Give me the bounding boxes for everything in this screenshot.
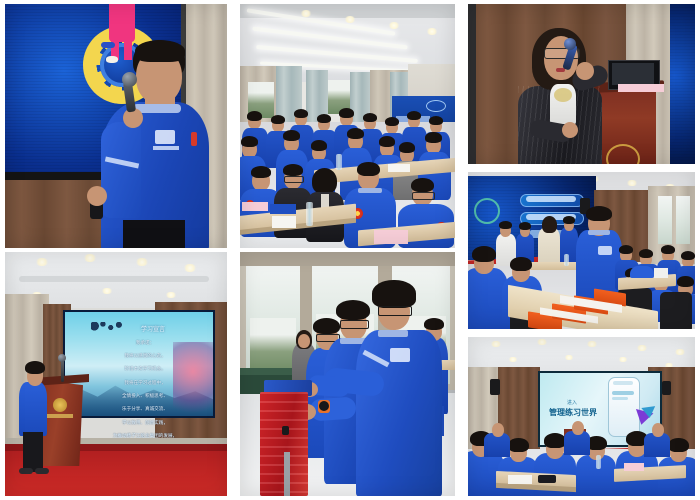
photo-3-top-right-podium-speaker[interactable]: [468, 4, 695, 164]
photo-6-bottom-left-stage-pledge[interactable]: 学习宣言 我承诺： 我将以感恩的心态， 珍惜本次学习机会。 我将在学习过程中， …: [5, 252, 227, 496]
photo-5-bottom-middle-practical[interactable]: [240, 252, 455, 496]
photo-7-bottom-right-lecture-rear[interactable]: 进入 管理练习世界: [468, 337, 695, 496]
photo-4-right-middle-kit-boxes[interactable]: [468, 172, 695, 329]
photo-collage: 学习宣言 我承诺： 我将以感恩的心态， 珍惜本次学习机会。 我将在学习过程中， …: [0, 0, 700, 500]
photo-2-top-middle-audience[interactable]: [240, 4, 455, 248]
photo-1-top-left-speaker[interactable]: [5, 4, 227, 248]
